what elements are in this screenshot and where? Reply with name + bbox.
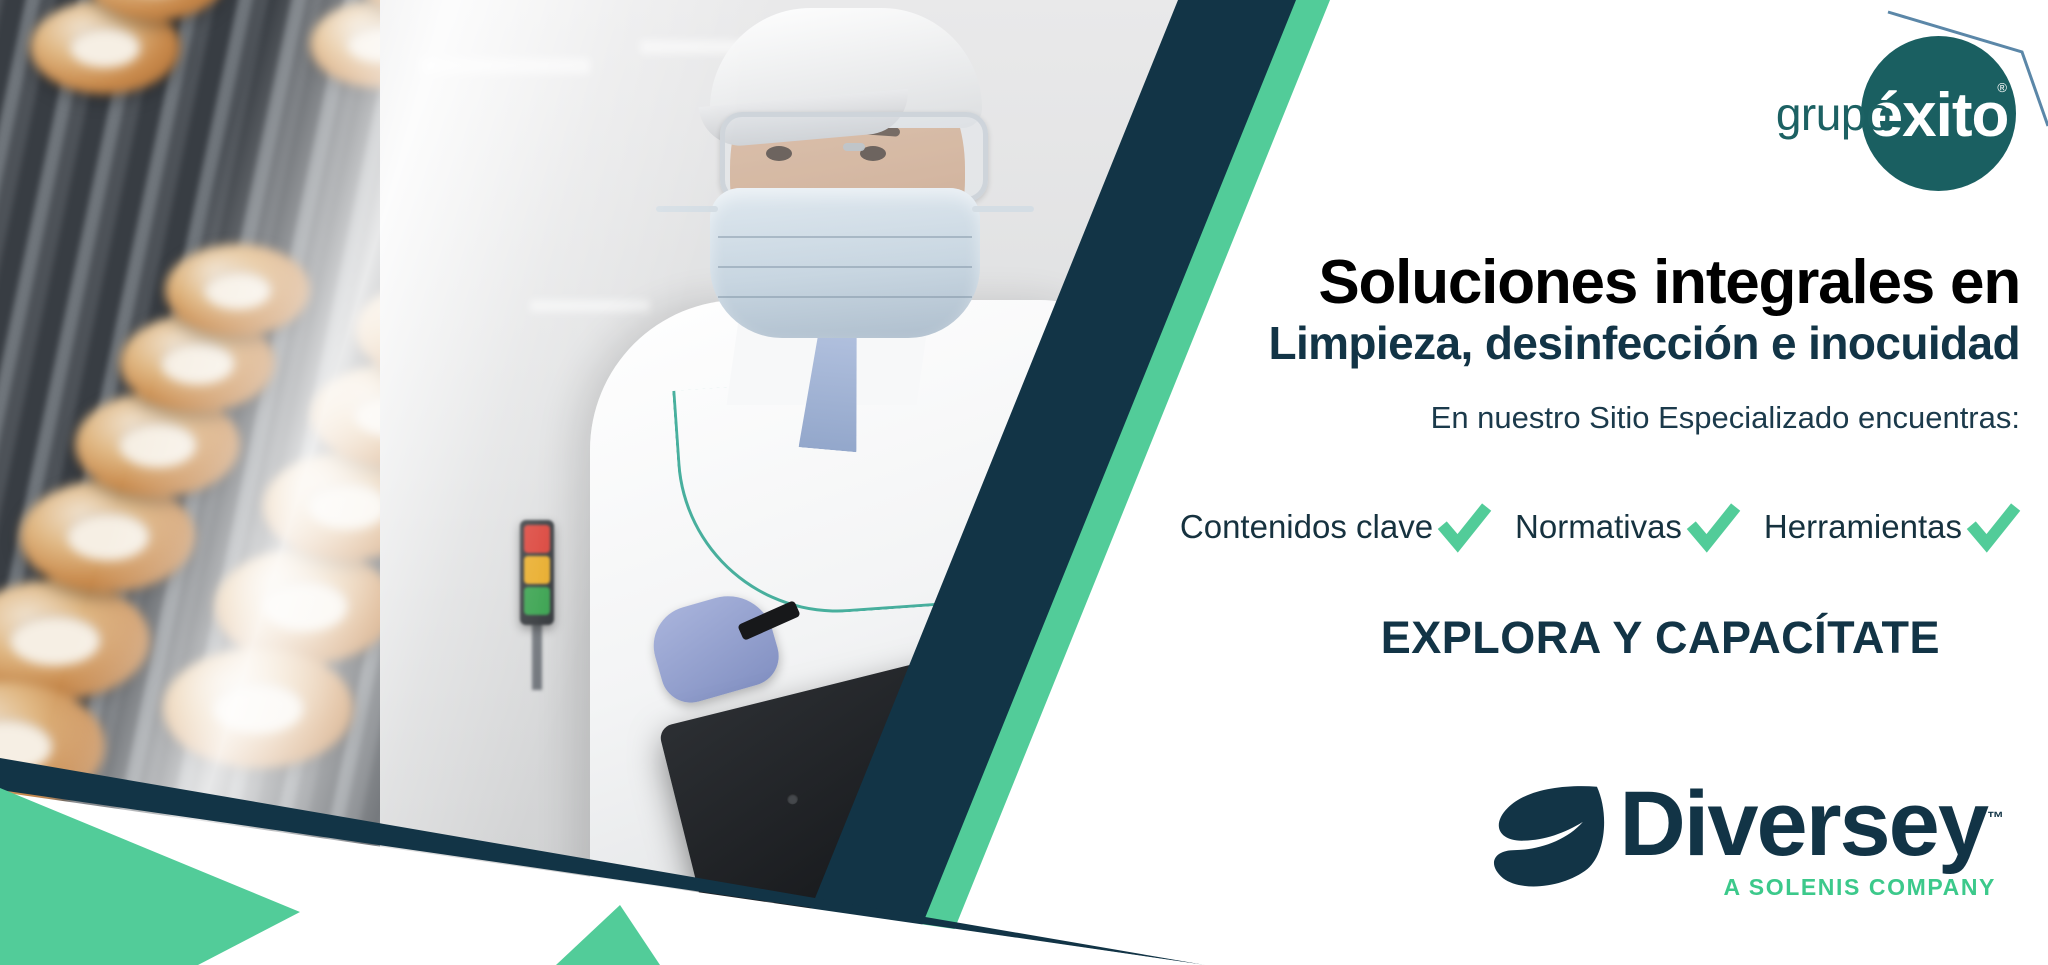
- trademark-icon: ™: [1987, 808, 2004, 827]
- diversey-wordmark-group: Diversey™ A SOLENIS COMPANY: [1619, 782, 2004, 867]
- subheadline: En nuestro Sitio Especializado encuentra…: [1431, 400, 2020, 436]
- hero-photo: [0, 0, 1205, 965]
- feature-list: Contenidos clave Normativas Herramientas: [1180, 498, 2022, 556]
- call-to-action-text[interactable]: EXPLORA Y CAPACÍTATE: [1381, 612, 1940, 664]
- check-icon: [1964, 498, 2022, 556]
- exito-grupo-text: grupo: [1776, 87, 1891, 141]
- diversey-wordmark: Diversey™: [1619, 782, 2004, 867]
- promotional-banner: grupo éxito ® Soluciones integrales en L…: [0, 0, 2048, 965]
- check-icon: [1435, 498, 1493, 556]
- headline-line-1: Soluciones integrales en: [1318, 252, 2020, 314]
- feature-item: Herramientas: [1764, 498, 2022, 556]
- registered-trademark-icon: ®: [1997, 80, 2007, 95]
- diversey-logo[interactable]: Diversey™ A SOLENIS COMPANY: [1491, 782, 2004, 890]
- check-icon: [1684, 498, 1742, 556]
- feature-item: Contenidos clave: [1180, 498, 1515, 556]
- content-panel: grupo éxito ® Soluciones integrales en L…: [1120, 0, 2048, 965]
- photo-light-sheen: [0, 0, 1205, 965]
- grupo-exito-logo[interactable]: grupo éxito ®: [1776, 36, 2016, 191]
- feature-label: Herramientas: [1764, 508, 1962, 546]
- diversey-leaf-icon: [1491, 782, 1609, 890]
- diversey-tagline: A SOLENIS COMPANY: [1723, 874, 1996, 901]
- feature-label: Normativas: [1515, 508, 1682, 546]
- diversey-name-text: Diversey: [1619, 773, 1987, 875]
- feature-label: Contenidos clave: [1180, 508, 1433, 546]
- feature-item: Normativas: [1515, 498, 1764, 556]
- headline-line-2: Limpieza, desinfección e inocuidad: [1268, 320, 2020, 366]
